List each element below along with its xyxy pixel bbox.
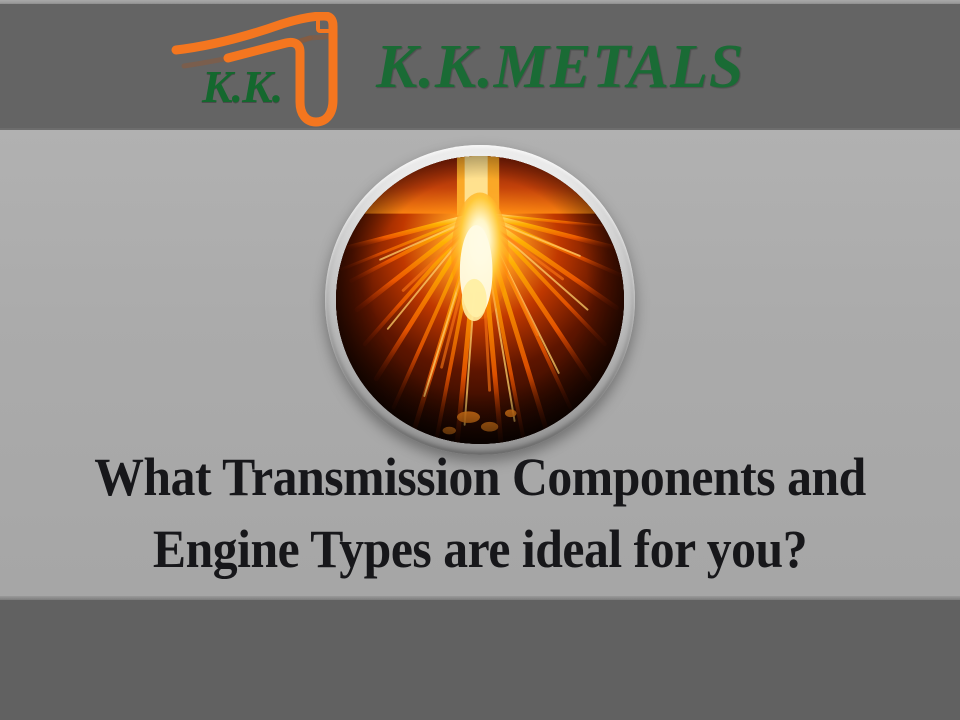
title-line-2: Engine Types are ideal for you?: [38, 518, 921, 580]
title-line-1: What Transmission Components and: [38, 446, 921, 508]
header-band: K.K. K.K.METALS: [0, 4, 960, 130]
hero-image-photo: [336, 156, 624, 444]
brand-name: K.K.METALS: [376, 33, 744, 101]
molten-metal-sparks-illustration: [336, 156, 624, 444]
slide-canvas: K.K. K.K.METALS: [0, 0, 960, 720]
page-title: What Transmission Components and Engine …: [0, 446, 960, 580]
hero-image-circle: [325, 145, 635, 455]
company-logo[interactable]: K.K.: [170, 12, 370, 130]
logo-initials: K.K.: [202, 64, 282, 110]
footer-band: [0, 600, 960, 720]
